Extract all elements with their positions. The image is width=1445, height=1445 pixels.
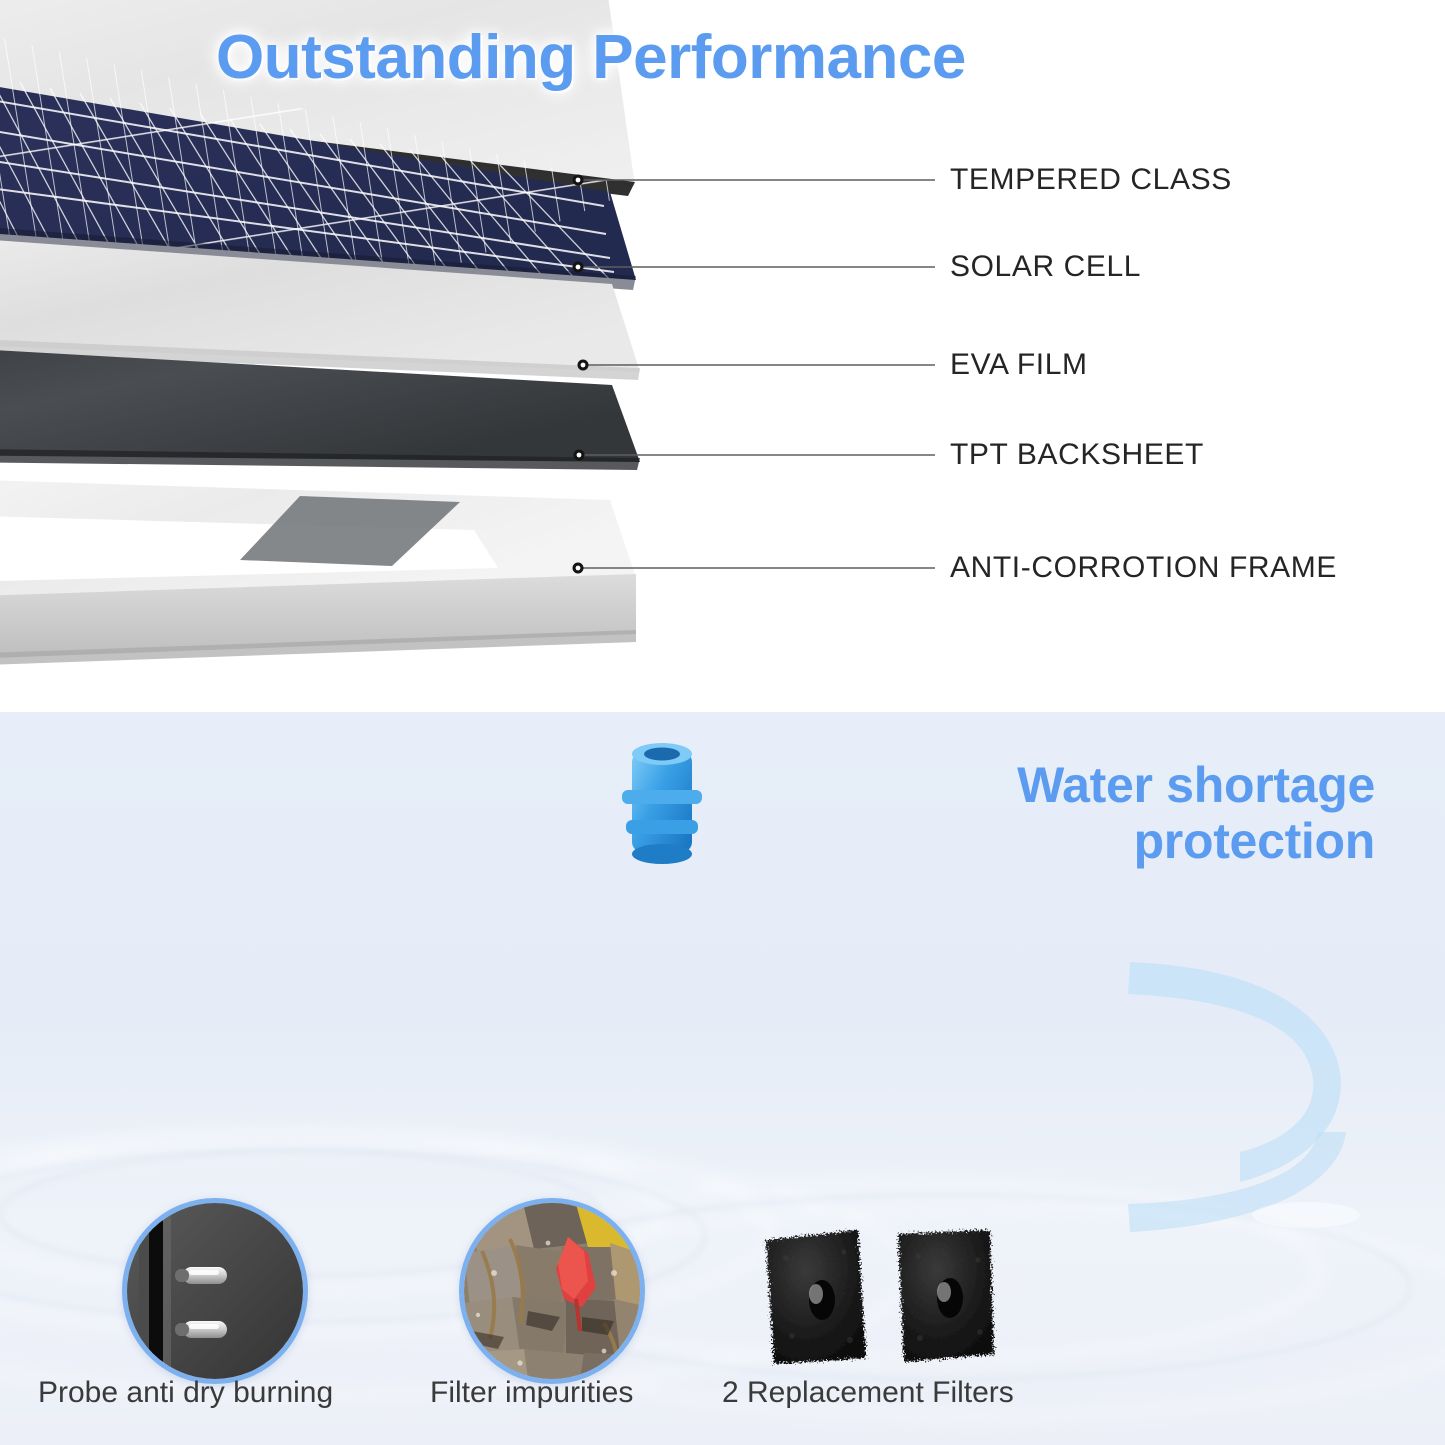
probe-photo: [127, 1203, 303, 1379]
debris-callout-caption: Filter impurities: [430, 1376, 633, 1410]
water-splash: [1252, 1202, 1360, 1228]
infographic-page: Outstanding Performance TEMPERED CLASS S…: [0, 0, 1445, 1445]
probe-callout-caption: Probe anti dry burning: [38, 1376, 333, 1410]
pump-feature-title-line1: Water shortage: [815, 757, 1375, 813]
replacement-filters-image: [752, 1212, 1008, 1378]
page-title: Outstanding Performance: [216, 22, 1236, 93]
outlet-nozzle: [622, 743, 702, 864]
probe-pin-upper: [175, 1267, 227, 1284]
pump-feature-title-line2: protection: [815, 813, 1375, 869]
filters-callout-caption: 2 Replacement Filters: [722, 1376, 1014, 1410]
probe-callout-circle: [122, 1198, 308, 1384]
solar-panel-section: Outstanding Performance TEMPERED CLASS S…: [0, 0, 1445, 712]
layer-label-tempered-glass: TEMPERED CLASS: [950, 163, 1232, 197]
aluminum-frame: [0, 470, 636, 678]
layer-label-eva-film: EVA FILM: [950, 348, 1088, 382]
probe-pin-lower: [175, 1321, 227, 1338]
debris-callout-circle: [459, 1198, 645, 1384]
layer-label-anti-corrosion-frame: ANTI-CORROTION FRAME: [950, 551, 1337, 585]
pump-feature-title: Water shortage protection: [815, 757, 1375, 869]
exploded-solar-panel-diagram: [0, 0, 1445, 712]
layer-label-solar-cell: SOLAR CELL: [950, 250, 1141, 284]
fallen-leaves-photo: [464, 1203, 640, 1379]
layer-label-tpt-backsheet: TPT BACKSHEET: [950, 438, 1204, 472]
